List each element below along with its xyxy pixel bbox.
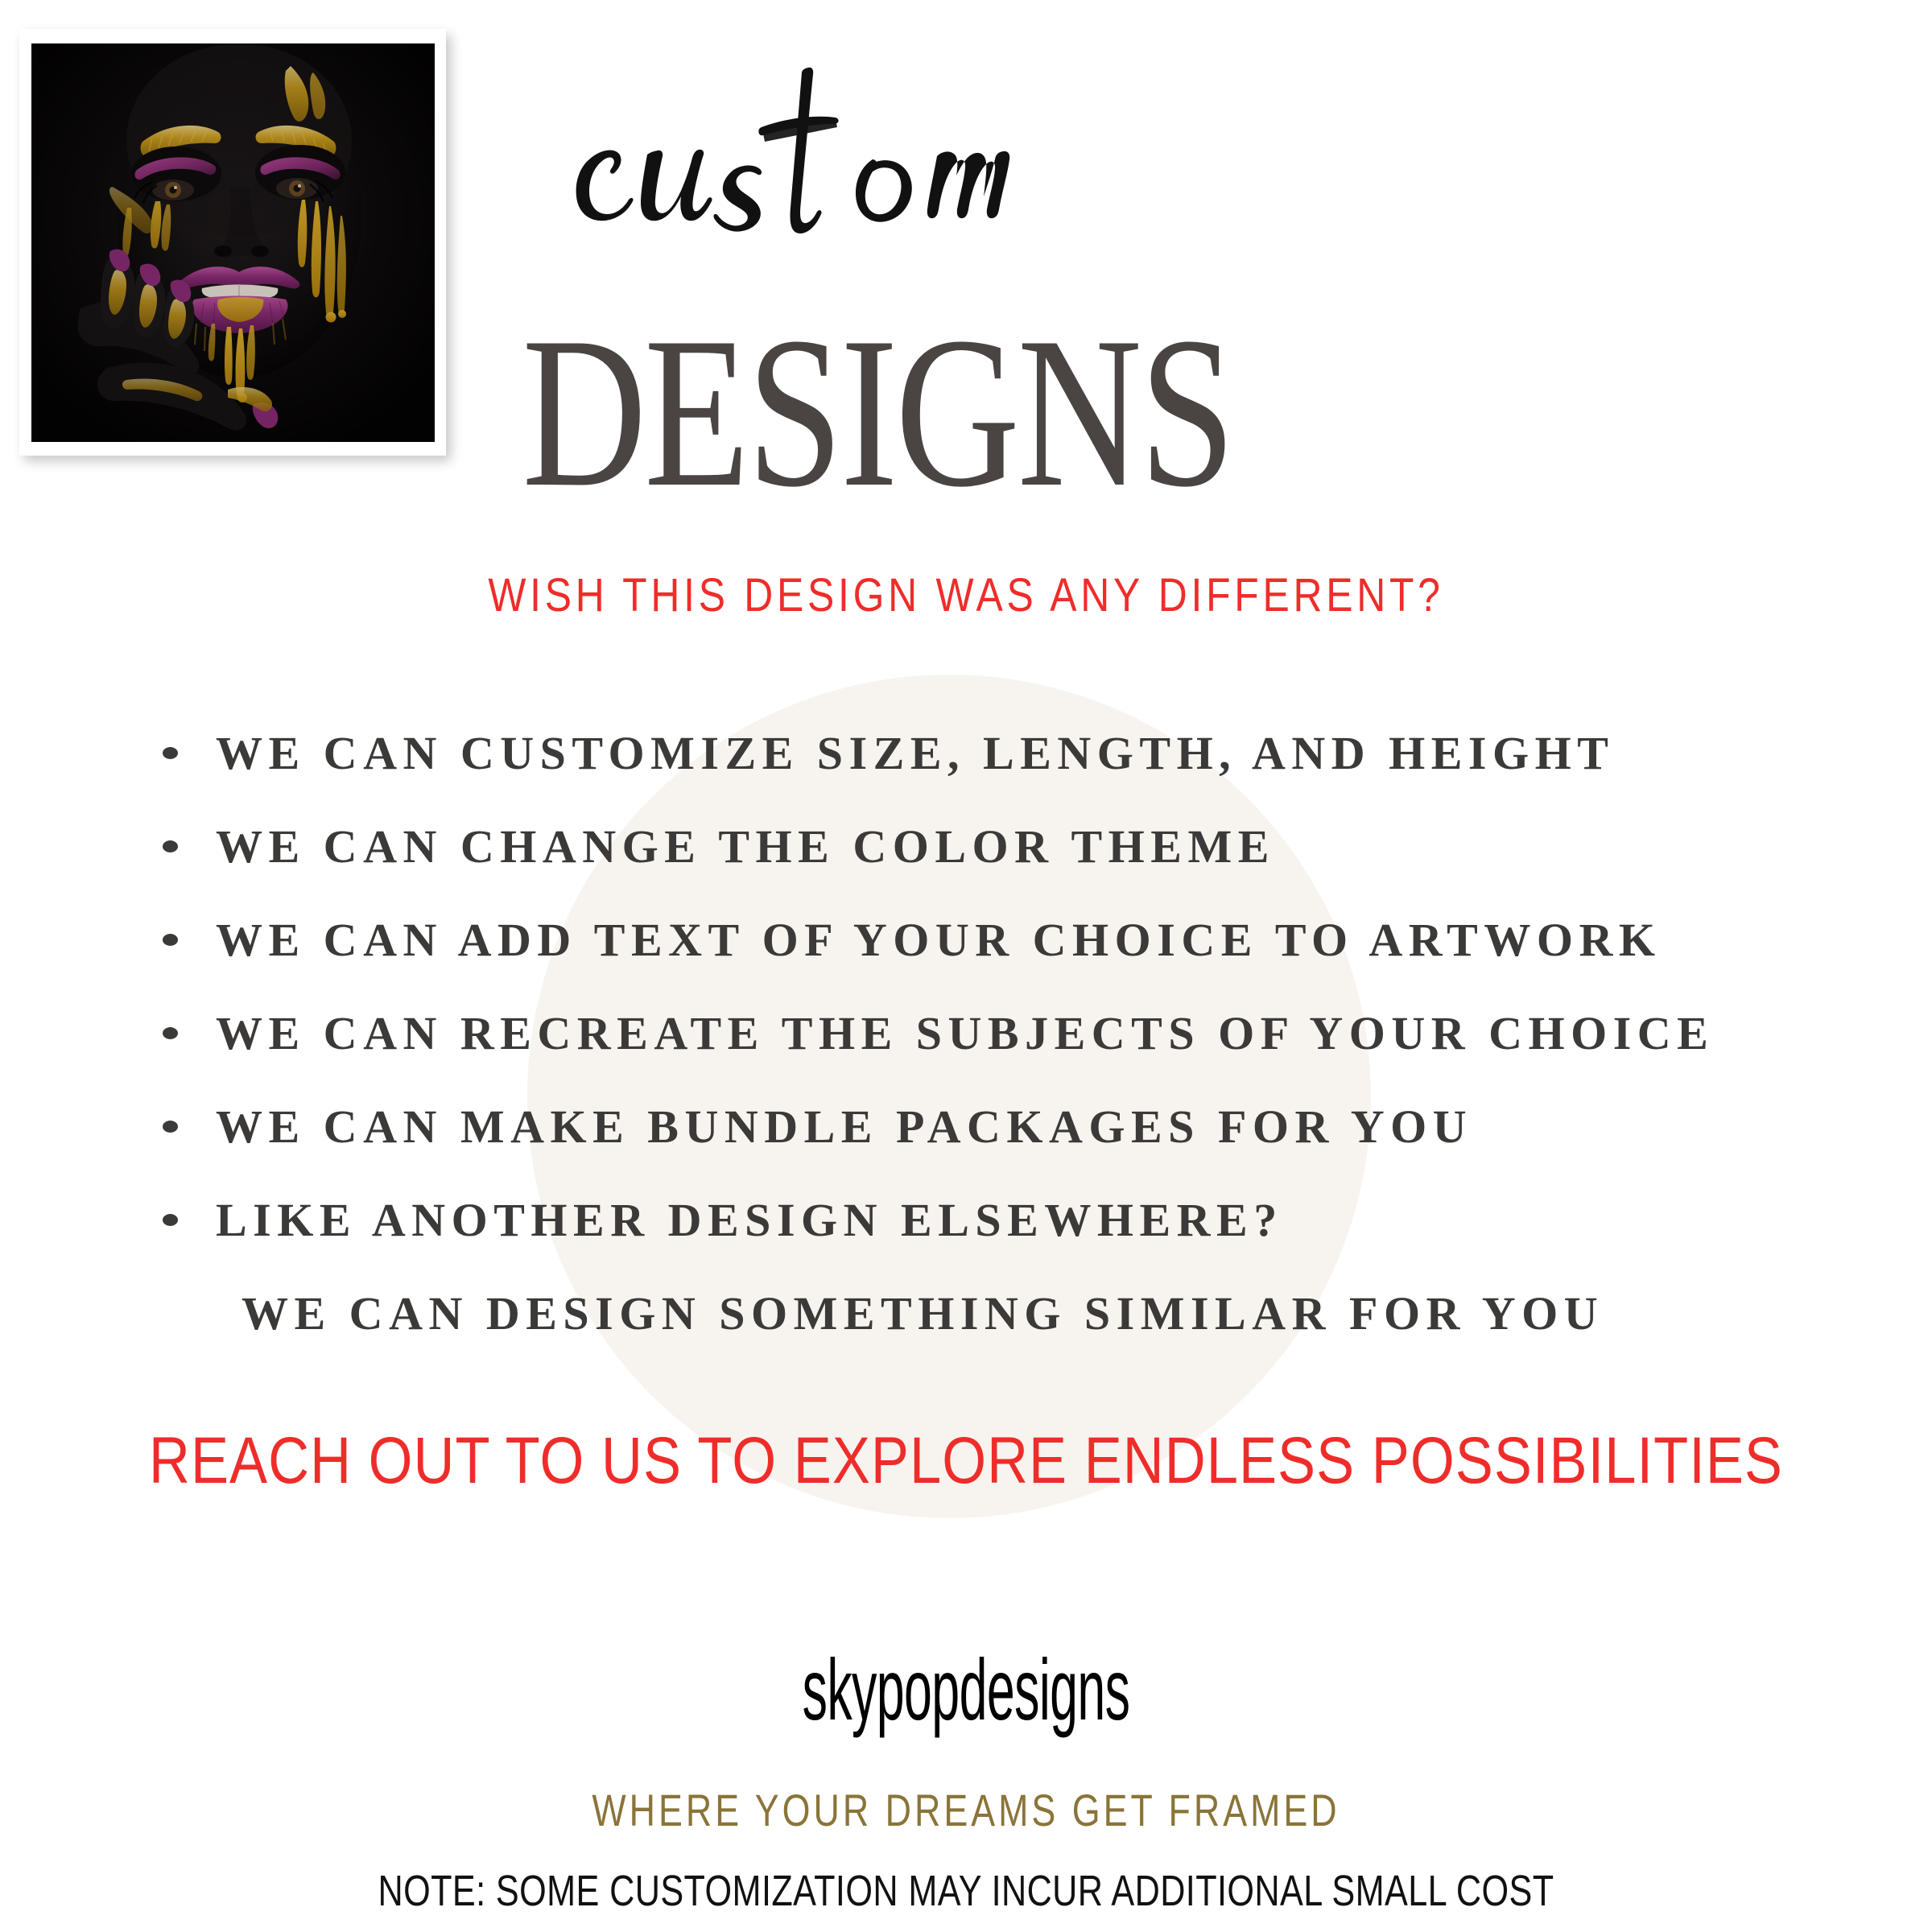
brand-tagline: WHERE YOUR DREAMS GET FRAMED xyxy=(193,1784,1739,1836)
brand-logo-text: skypopdesigns xyxy=(406,1639,1526,1740)
list-item: WE CAN ADD TEXT OF YOUR CHOICE TO ARTWOR… xyxy=(153,894,1860,987)
subheading: WISH THIS DESIGN WAS ANY DIFFERENT? xyxy=(135,568,1797,622)
list-item: LIKE ANOTHER DESIGN ELSEWHERE? xyxy=(153,1174,1860,1267)
list-item: WE CAN RECREATE THE SUBJECTS OF YOUR CHO… xyxy=(153,987,1860,1080)
footer-note: NOTE: SOME CUSTOMIZATION MAY INCUR ADDIT… xyxy=(193,1866,1739,1916)
list-item-label: LIKE ANOTHER DESIGN ELSEWHERE? xyxy=(216,1174,1283,1267)
list-item-continuation: WE CAN DESIGN SOMETHING SIMILAR FOR YOU xyxy=(153,1267,1860,1360)
list-item-label: WE CAN CHANGE THE COLOR THEME xyxy=(216,800,1275,894)
list-item-label: WE CAN DESIGN SOMETHING SIMILAR FOR YOU xyxy=(242,1267,1604,1360)
artwork-frame xyxy=(19,29,446,456)
bullet-dot-icon xyxy=(163,1214,178,1226)
list-item: WE CAN MAKE BUNDLE PACKAGES FOR YOU xyxy=(153,1080,1860,1174)
bullet-dot-icon xyxy=(163,1027,178,1039)
call-to-action: REACH OUT TO US TO EXPLORE ENDLESS POSSI… xyxy=(135,1423,1797,1499)
page-title: DESIGNS xyxy=(420,304,1335,520)
list-item-label: WE CAN ADD TEXT OF YOUR CHOICE TO ARTWOR… xyxy=(216,894,1661,987)
bullet-dot-icon xyxy=(163,934,178,946)
list-item: WE CAN CHANGE THE COLOR THEME xyxy=(153,800,1860,894)
list-item-label: WE CAN CUSTOMIZE SIZE, LENGTH, AND HEIGH… xyxy=(216,707,1614,800)
bullet-dot-icon xyxy=(163,1121,178,1133)
bullet-dot-icon xyxy=(163,747,178,759)
artwork-image xyxy=(31,43,435,442)
list-item-label: WE CAN MAKE BUNDLE PACKAGES FOR YOU xyxy=(216,1080,1472,1174)
bullet-dot-icon xyxy=(163,840,178,852)
list-item-label: WE CAN RECREATE THE SUBJECTS OF YOUR CHO… xyxy=(216,987,1714,1080)
headline-script-word xyxy=(322,64,1385,266)
list-item: WE CAN CUSTOMIZE SIZE, LENGTH, AND HEIGH… xyxy=(153,707,1860,800)
features-list: WE CAN CUSTOMIZE SIZE, LENGTH, AND HEIGH… xyxy=(153,707,1860,1360)
